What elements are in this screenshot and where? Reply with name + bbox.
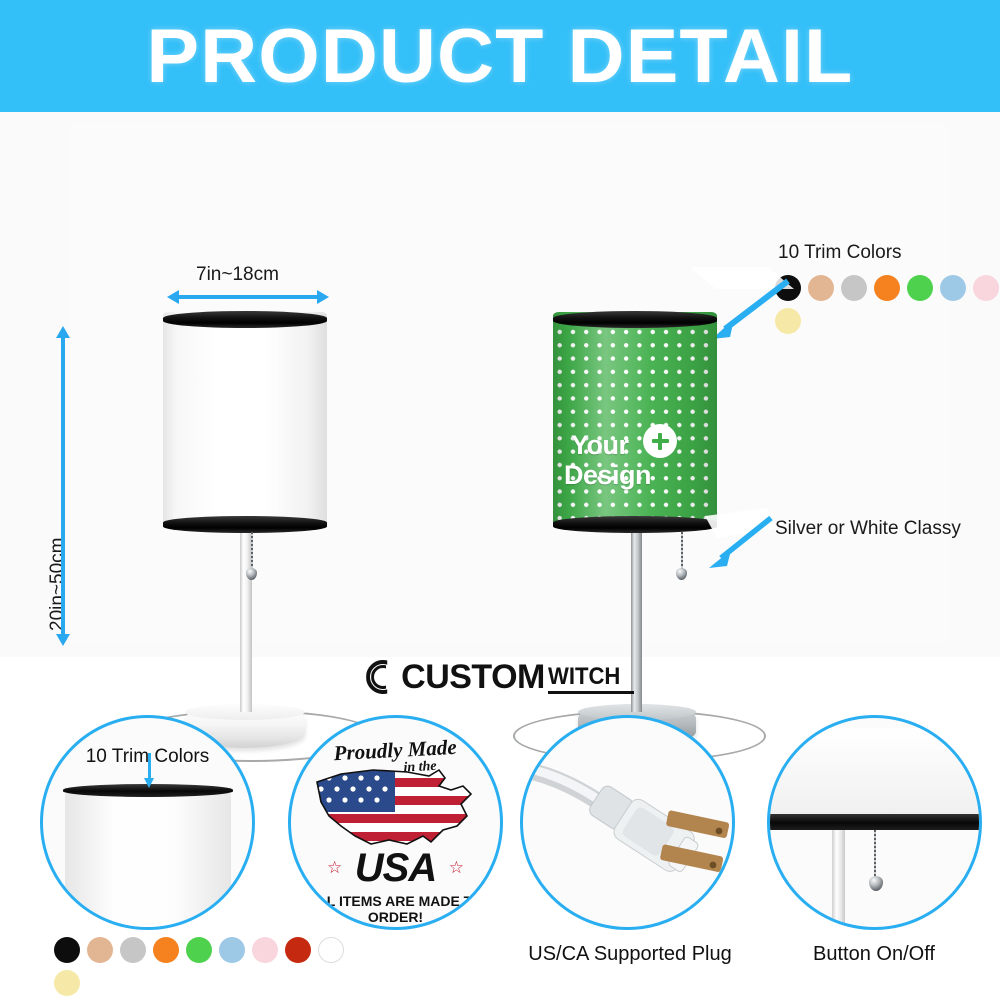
feature-circle: 10 Trim Colors [40, 715, 255, 930]
swatch-pink[interactable] [973, 275, 999, 301]
pull-chain[interactable] [681, 532, 683, 572]
shade-trim-bottom [163, 516, 327, 533]
plus-icon [643, 424, 677, 458]
feature-panels: 10 Trim Colors Proudly Mad [0, 715, 1000, 1000]
shade-surface [163, 312, 327, 528]
feature-plug-label: US/CA Supported Plug [485, 943, 775, 966]
base-finish-label: Silver or White Classy [775, 518, 961, 540]
logo-witch-text: WITCH [548, 665, 627, 689]
logo-custom-text: CUSTOM [401, 660, 545, 694]
swatch-orange[interactable] [874, 275, 900, 301]
usa-subtitle: ALL ITEMS ARE MADE TO ORDER! [291, 893, 500, 925]
swatch-green[interactable] [907, 275, 933, 301]
your-design-line1: Your [571, 430, 629, 460]
feature-circle [520, 715, 735, 930]
swatch-tan[interactable] [808, 275, 834, 301]
height-dimension-arrow [61, 337, 65, 635]
swatch-light-blue[interactable] [940, 275, 966, 301]
lamp-shade-white [163, 312, 327, 528]
shade-trim-top [163, 311, 327, 328]
swatch-pink[interactable] [252, 937, 278, 963]
shade-surface [553, 312, 717, 528]
height-dimension-label: 20in~50cm [47, 538, 69, 631]
brand-logo: CUSTOM WITCH [0, 660, 1000, 694]
page-title: PRODUCT DETAIL [147, 13, 854, 100]
feature-circle [767, 715, 982, 930]
pull-chain[interactable] [251, 532, 253, 572]
trim-colors-heading: 10 Trim Colors [778, 242, 902, 264]
your-design-line2: Design [564, 460, 651, 490]
shade-preview [767, 728, 982, 816]
swatch-tan[interactable] [87, 937, 113, 963]
star-right-icon: ☆ [449, 858, 464, 878]
logo-underline [548, 691, 634, 694]
usa-map-flag-icon [311, 760, 486, 860]
swatch-green[interactable] [186, 937, 212, 963]
swatch-black[interactable] [54, 937, 80, 963]
logo-c-icon [366, 660, 400, 694]
swatch-gray[interactable] [120, 937, 146, 963]
feature-circle: Proudly Made in the [288, 715, 503, 930]
feature-trim-label: 10 Trim Colors [43, 746, 252, 768]
usa-title: USA [291, 846, 500, 891]
swatch-yellow[interactable] [54, 970, 80, 996]
shade-trim-top [553, 311, 717, 328]
pull-chain-ball[interactable] [869, 876, 883, 891]
shade-trim-preview [767, 814, 982, 830]
shade-preview [65, 790, 231, 930]
feature-button-onoff: Button On/Off [767, 715, 982, 1000]
swatch-orange[interactable] [153, 937, 179, 963]
logo-witch-wrap: WITCH [548, 665, 634, 694]
product-stage: 10 Trim Colors 7in~18cm 20in~50cm [0, 112, 1000, 657]
feature-made-in-usa: Proudly Made in the [288, 715, 503, 1000]
swatch-gray[interactable] [841, 275, 867, 301]
feature-trim-colors: 10 Trim Colors [40, 715, 255, 1000]
lamp-pole-preview [832, 830, 845, 930]
feature-button-label: Button On/Off [749, 943, 999, 966]
pull-chain[interactable] [874, 830, 876, 880]
usa-badge: Proudly Made in the [291, 718, 500, 927]
page-header: PRODUCT DETAIL [0, 0, 1000, 112]
shade-trim-bottom [553, 516, 717, 533]
swatch-light-blue[interactable] [219, 937, 245, 963]
base-finish-arrow [695, 508, 785, 583]
width-dimension-label: 7in~18cm [196, 264, 279, 286]
lamp-shade-green: Your Design [553, 312, 717, 528]
width-dimension-arrow [178, 295, 318, 299]
feature-plug: US/CA Supported Plug [520, 715, 750, 1000]
plug-illustration [523, 718, 735, 930]
